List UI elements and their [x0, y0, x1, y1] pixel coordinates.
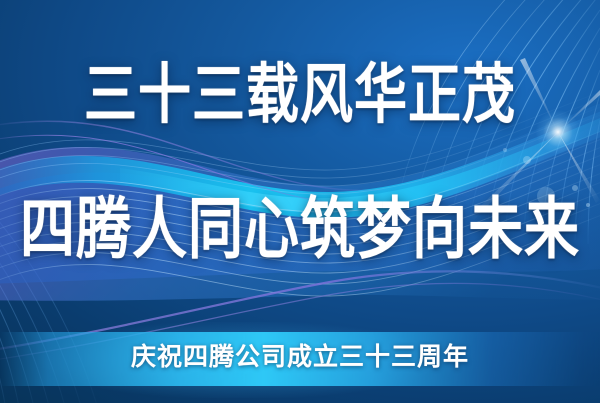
subtitle-text: 庆祝四腾公司成立三十三周年 — [131, 338, 469, 378]
subtitle-container: 庆祝四腾公司成立三十三周年 — [0, 338, 600, 378]
headline-line-1: 三十三载风华正茂 — [0, 58, 600, 120]
headline-line-2-text: 四腾人同心筑梦向未来 — [20, 190, 580, 268]
headline-line-1-text: 三十三载风华正茂 — [84, 58, 516, 134]
anniversary-poster: 三十三载风华正茂 四腾人同心筑梦向未来 庆祝四腾公司成立三十三周年 — [0, 0, 600, 403]
headline-line-2: 四腾人同心筑梦向未来 — [0, 190, 600, 254]
